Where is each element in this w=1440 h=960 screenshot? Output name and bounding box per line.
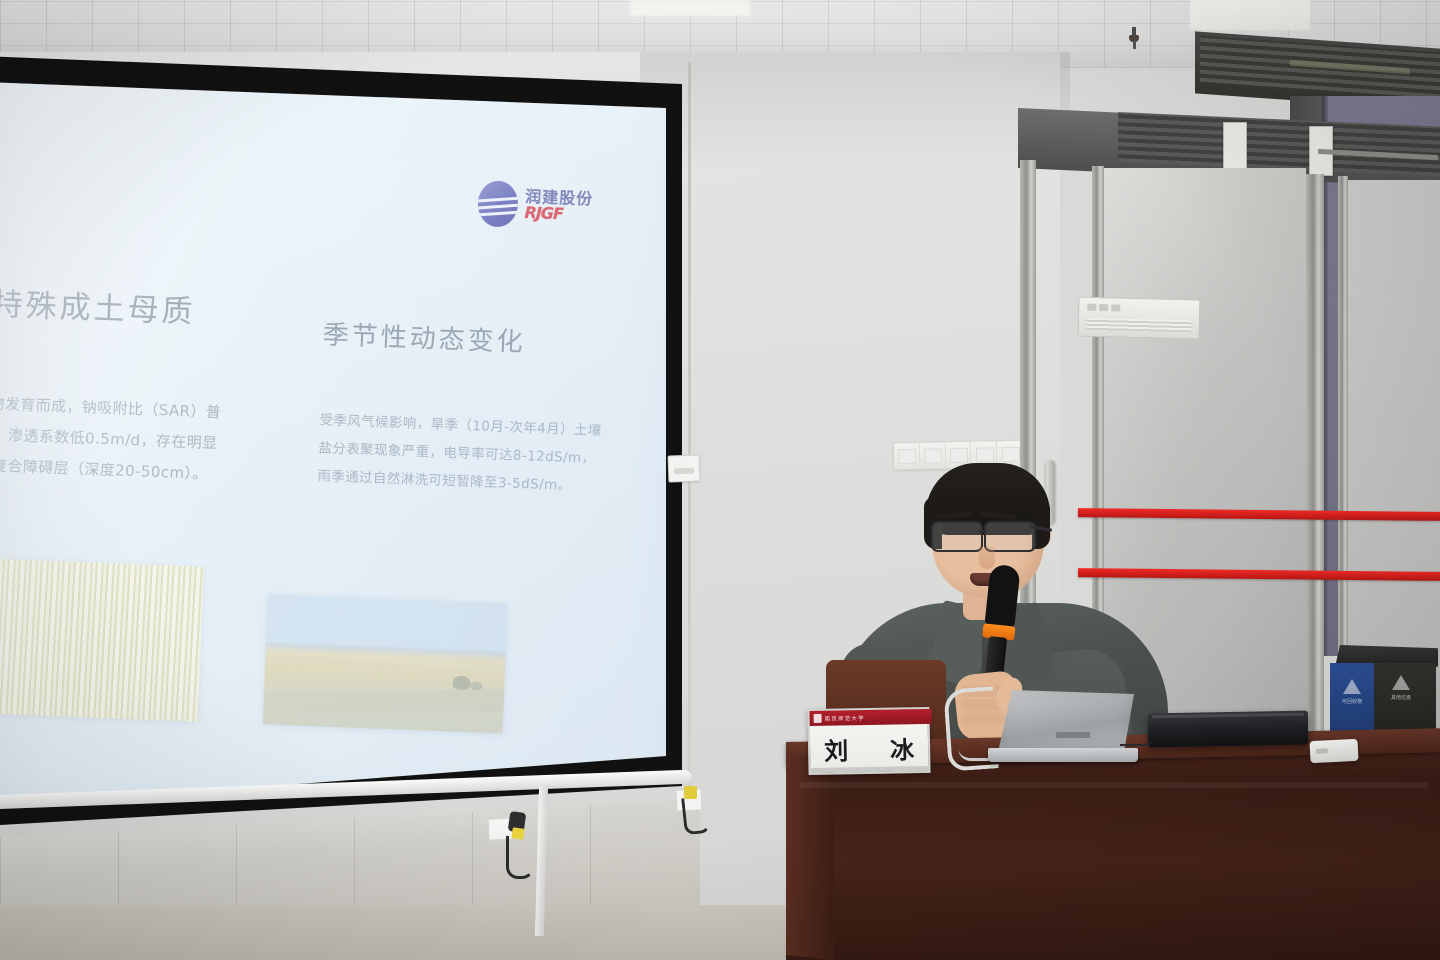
ceiling-light-panel-secondary: [630, 0, 750, 16]
projection-screen[interactable]: 润建股份 RJGF 特殊成土母质 季节性动态变化 海相沉积物发育而成，钠吸附比（…: [0, 26, 694, 846]
laptop-lid: [998, 690, 1134, 752]
white-remote[interactable]: [1309, 739, 1358, 763]
projected-slide: 润建股份 RJGF 特殊成土母质 季节性动态变化 海相沉积物发育而成，钠吸附比（…: [0, 88, 654, 813]
cable-left: [506, 836, 534, 879]
name-plate-base: [810, 766, 928, 773]
reed-closeup-photo: [0, 555, 204, 721]
presenter-desk: [786, 742, 1440, 960]
name-plate-header-bar: 南京师范大学: [809, 709, 931, 726]
door-closer-left: [1223, 122, 1247, 172]
wall-shadow: [640, 52, 1070, 172]
university-name: 南京师范大学: [825, 714, 865, 723]
cable-right: [681, 796, 711, 836]
slide-paragraph-right: 受季风气候影响，旱季（10月-次年4月）土壤盐分表聚现象严重，电导率可达8-12…: [317, 406, 605, 501]
bin-label-other: 其他垃圾: [1378, 695, 1424, 701]
logo-latin-text: RJGF: [524, 205, 593, 224]
power-socket[interactable]: · ·: [668, 454, 701, 482]
desk-cable: [1120, 736, 1154, 746]
logo-ellipse-icon: [477, 180, 519, 228]
ceiling-light-panel: [1190, 0, 1310, 30]
floor: [0, 905, 900, 960]
slide-heading-left: 特殊成土母质: [0, 279, 197, 332]
recycle-triangle-icon-blue: [1343, 679, 1361, 694]
university-crest-icon: [814, 714, 822, 723]
laptop-base: [988, 748, 1138, 762]
name-plate: 南京师范大学 刘 冰: [807, 707, 930, 775]
silver-laptop[interactable]: [988, 690, 1134, 762]
bin-label-recyclable: 可回收物: [1329, 699, 1375, 705]
laptop-brand-logo: [1056, 732, 1090, 738]
air-conditioner-vent: [1078, 297, 1201, 340]
slide-paragraph-left: 海相沉积物发育而成，钠吸附比（SAR）普遍高于13，渗透系数低0.5m/d，存在…: [0, 386, 228, 490]
runjian-logo: 润建股份 RJGF: [477, 175, 609, 236]
partition-mullion-3: [1306, 174, 1324, 794]
slide-heading-right: 季节性动态变化: [322, 314, 526, 359]
recycle-triangle-icon-black: [1392, 675, 1410, 690]
presentation-room-photo: 润建股份 RJGF 特殊成土母质 季节性动态变化 海相沉积物发育而成，钠吸附比（…: [0, 0, 1440, 960]
microphone-head: [984, 564, 1020, 629]
desk-edge-highlight: [800, 782, 1428, 788]
black-laptop[interactable]: [1148, 711, 1308, 748]
saline-field-photo: [263, 594, 508, 733]
speaker-name: 刘 冰: [810, 726, 929, 771]
